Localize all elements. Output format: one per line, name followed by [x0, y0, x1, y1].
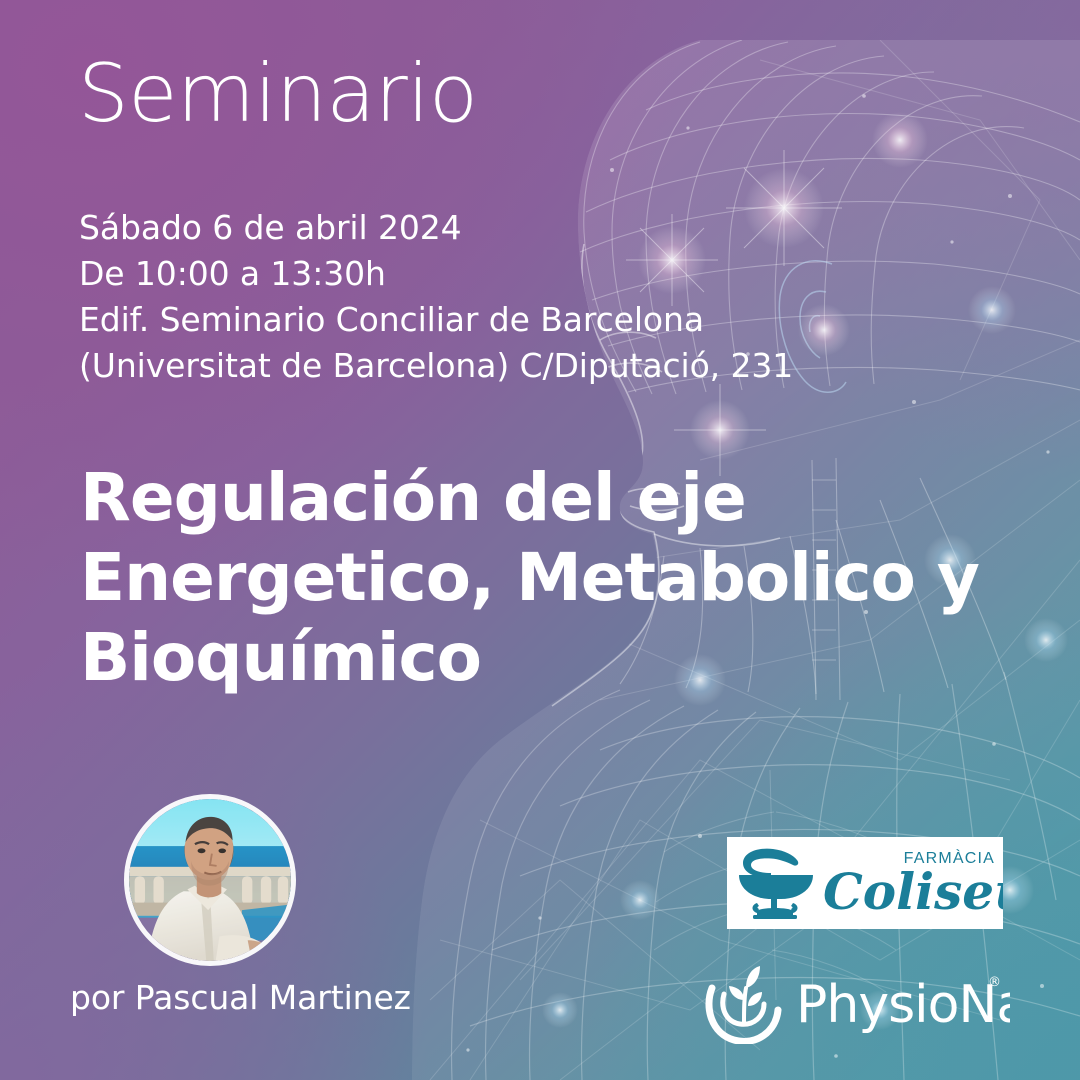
event-details: Sábado 6 de abril 2024 De 10:00 a 13:30h… [79, 205, 793, 389]
event-time: De 10:00 a 13:30h [79, 251, 793, 297]
speaker-avatar [124, 794, 296, 966]
page-title: Seminario [78, 54, 477, 134]
event-venue: Edif. Seminario Conciliar de Barcelona [79, 297, 793, 343]
sprout-in-bowl-icon [709, 988, 778, 1041]
seminar-headline: Regulación del eje Energetico, Metabolic… [80, 458, 1020, 698]
registered-trademark-icon: ® [988, 975, 1001, 990]
headline-line-1: Regulación del eje [80, 458, 1020, 538]
physionat-wordmark: PhysioNat [796, 975, 1010, 1035]
speaker-credit: por Pascual Martinez [70, 978, 411, 1018]
bowl-of-hygieia-icon [739, 849, 813, 919]
headline-line-2: Energetico, Metabolico y [80, 538, 1020, 618]
event-date: Sábado 6 de abril 2024 [79, 205, 793, 251]
coliseum-wordmark: Coliseum [823, 862, 1003, 921]
coliseum-logo: FARMÀCIA Coliseum [727, 837, 1003, 929]
headline-line-3: Bioquímico [80, 618, 1020, 698]
avatar-photo [129, 799, 291, 961]
physionat-logo: PhysioNat ® [700, 958, 1010, 1044]
seminar-poster: Seminario Sábado 6 de abril 2024 De 10:0… [0, 0, 1080, 1080]
event-address: (Universitat de Barcelona) C/Diputació, … [79, 343, 793, 389]
